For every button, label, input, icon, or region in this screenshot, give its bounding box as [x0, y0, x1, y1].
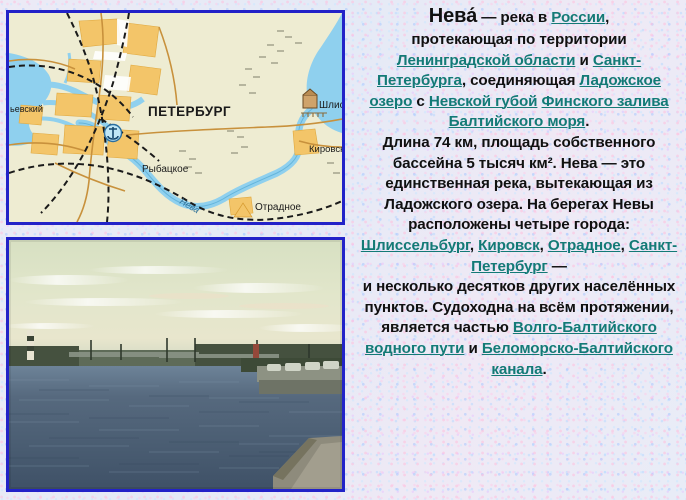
lead-plain-1: — река в — [477, 9, 551, 26]
period-1: . — [585, 113, 589, 130]
photo-image-frame — [6, 237, 345, 492]
lead-comma-1: , — [605, 9, 609, 26]
paragraph-stats: Длина 74 км, площадь собственного бассей… — [383, 134, 656, 233]
word-i-1: и — [575, 52, 592, 69]
link-russia[interactable]: России — [551, 9, 605, 26]
period-2: . — [543, 361, 547, 378]
map-image-frame: ьевский ПЕТЕРБУРГ Шлис Кировск Рыбацкое … — [6, 10, 345, 225]
link-finskiy-zaliv[interactable]: Финского залива — [542, 93, 669, 110]
link-shlisselburg[interactable]: Шлиссельбург — [361, 237, 470, 254]
map-label-yevsky: ьевский — [10, 104, 43, 114]
link-baltiyskoe-more[interactable]: Балтийского моря — [449, 113, 586, 130]
map-label-peterburg: ПЕТЕРБУРГ — [148, 104, 231, 119]
map-label-rybatskoe: Рыбацкое — [142, 163, 189, 175]
article-text-column: Нева́ — река в России, протекающая по те… — [352, 0, 686, 500]
headword: Нева́ — [429, 5, 477, 27]
comma-3: , — [540, 237, 544, 254]
link-otradnoe[interactable]: Отрадное — [548, 237, 621, 254]
map-label-kirovsk: Кировск — [309, 144, 342, 155]
word-s: с — [416, 93, 428, 110]
map-label-shlis: Шлис — [319, 100, 342, 111]
line-protekayushaya: протекающая по территории — [411, 31, 626, 48]
word-i-2: и — [464, 340, 481, 357]
link-nevskaya-guba[interactable]: Невской губой — [429, 93, 538, 110]
slide-canvas: ьевский ПЕТЕРБУРГ Шлис Кировск Рыбацкое … — [0, 0, 686, 500]
neva-river-embankment-photo — [9, 240, 342, 489]
link-leningradskaya-oblast[interactable]: Ленинградской области — [397, 52, 575, 69]
article-body-stats: Длина 74 км, площадь собственного бассей… — [356, 133, 682, 277]
comma-2: , — [470, 237, 474, 254]
comma-1: , — [462, 72, 466, 89]
anchor-icon — [105, 125, 122, 142]
dash-2: — — [552, 258, 567, 275]
link-belomorsko-baltiyskiy-kanal[interactable]: Беломорско-Балтийского канала — [482, 340, 673, 378]
map-of-neva-river: ьевский ПЕТЕРБУРГ Шлис Кировск Рыбацкое … — [9, 13, 342, 222]
word-soedinyayushaya: соединяющая — [470, 72, 579, 89]
article-body-settlements: и несколько десятков других населённых п… — [356, 277, 682, 380]
link-kirovsk[interactable]: Кировск — [478, 237, 539, 254]
article-body-1: протекающая по территории Ленинградской … — [356, 30, 682, 133]
map-label-otradnoe: Отрадное — [255, 202, 301, 213]
comma-4: , — [621, 237, 625, 254]
lighthouse — [27, 330, 34, 360]
article-lead-paragraph: Нева́ — река в России, — [356, 4, 682, 30]
